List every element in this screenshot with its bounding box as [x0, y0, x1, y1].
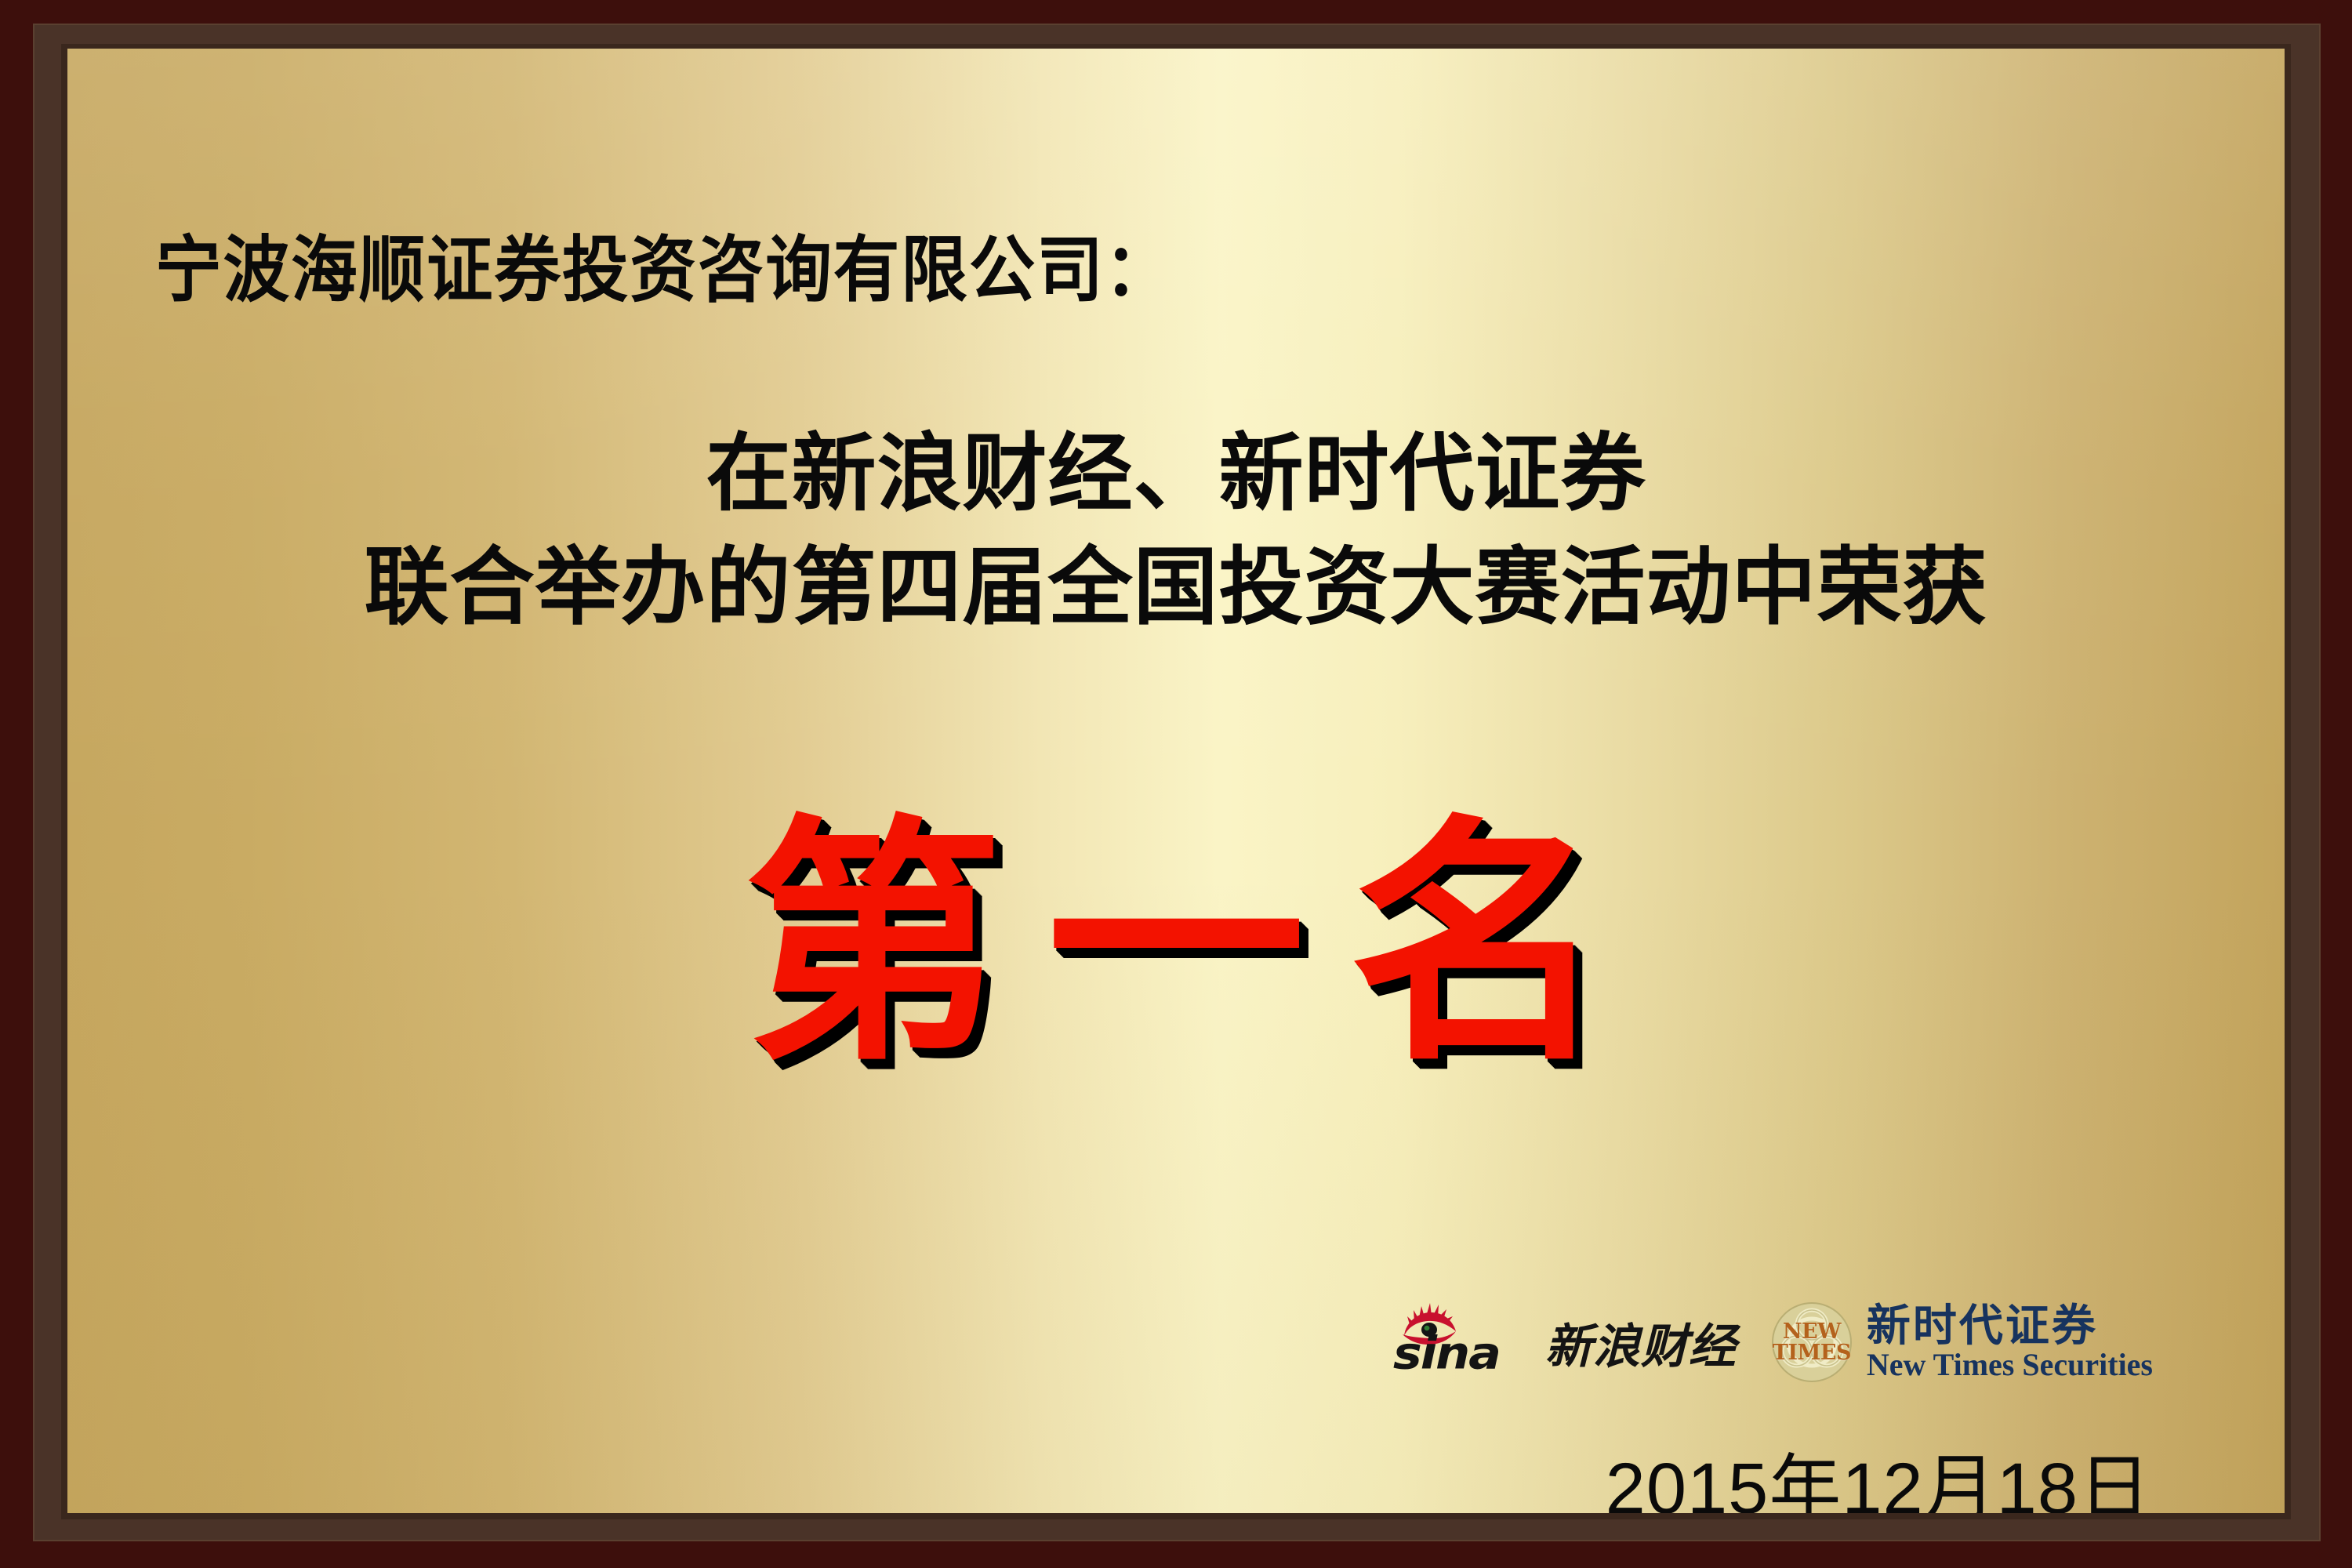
- new-times-cn-name: 新时代证券: [1867, 1304, 2153, 1348]
- new-times-emblem-icon: NEW TIMES: [1771, 1301, 1853, 1383]
- citation-block: 在新浪财经、新时代证券 联合举办的第四届全国投资大赛活动中荣获: [67, 417, 2285, 644]
- award-date: 2015年12月18日: [1606, 1430, 2151, 1513]
- new-times-securities-logo: NEW TIMES 新时代证券 New Times Securities: [1771, 1301, 2153, 1383]
- plaque-frame: 宁波海顺证券投资咨询有限公司： 在新浪财经、新时代证券 联合举办的第四届全国投资…: [0, 0, 2352, 1568]
- sina-cn-name: 新浪财经: [1545, 1308, 1737, 1380]
- sponsor-logo-row: sina 新浪财经: [1393, 1301, 2153, 1383]
- new-times-emblem-line-1: NEW: [1783, 1321, 1841, 1342]
- citation-line-1: 在新浪财经、新时代证券: [67, 417, 2285, 531]
- citation-line-2: 联合举办的第四届全国投资大赛活动中荣获: [67, 531, 2285, 644]
- sina-mark: sina: [1393, 1305, 1534, 1380]
- recipient-name: 宁波海顺证券投资咨询有限公司：: [155, 212, 1172, 316]
- new-times-names: 新时代证券 New Times Securities: [1867, 1304, 2153, 1381]
- new-times-en-name: New Times Securities: [1867, 1349, 2153, 1381]
- new-times-emblem-line-2: TIMES: [1773, 1342, 1851, 1363]
- award-rank-headline: 第一名: [67, 786, 2285, 1102]
- gold-plate-surface: 宁波海顺证券投资咨询有限公司： 在新浪财经、新时代证券 联合举办的第四届全国投资…: [67, 49, 2285, 1513]
- sina-wordmark: sina: [1393, 1327, 1500, 1379]
- new-times-emblem-label: NEW TIMES: [1771, 1301, 1853, 1383]
- sina-finance-logo: sina 新浪财经: [1393, 1305, 1737, 1380]
